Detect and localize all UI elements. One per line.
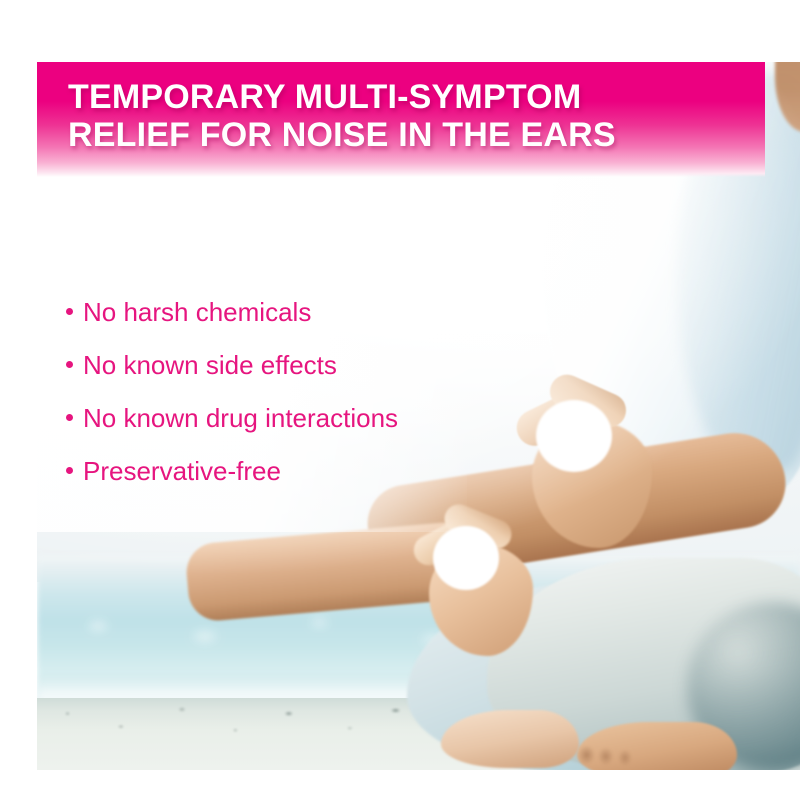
benefit-label: No harsh chemicals [83, 297, 311, 327]
bullet-dot-icon [66, 467, 73, 474]
benefit-label: No known drug interactions [83, 403, 398, 433]
right-mudra-ring-gap [536, 400, 612, 472]
toes [577, 738, 657, 770]
page-title-line-1: TEMPORARY MULTI-SYMPTOM [68, 78, 748, 116]
bullet-dot-icon [66, 308, 73, 315]
benefit-label: Preservative-free [83, 456, 281, 486]
list-item: No harsh chemicals [66, 297, 486, 327]
bullet-dot-icon [66, 414, 73, 421]
benefit-label: No known side effects [83, 350, 337, 380]
left-mudra-ring-gap [433, 526, 499, 590]
list-item: No known drug interactions [66, 403, 486, 433]
list-item: Preservative-free [66, 456, 486, 486]
banner-canvas: TEMPORARY MULTI-SYMPTOM RELIEF FOR NOISE… [0, 0, 812, 812]
header-band: TEMPORARY MULTI-SYMPTOM RELIEF FOR NOISE… [37, 62, 765, 177]
bullet-dot-icon [66, 361, 73, 368]
benefits-list: No harsh chemicals No known side effects… [66, 297, 486, 486]
page-title: TEMPORARY MULTI-SYMPTOM RELIEF FOR NOISE… [68, 78, 748, 154]
left-hand-mudra [395, 492, 545, 662]
list-item: No known side effects [66, 350, 486, 380]
page-title-line-2: RELIEF FOR NOISE IN THE EARS [68, 116, 748, 154]
left-foot [441, 710, 579, 768]
